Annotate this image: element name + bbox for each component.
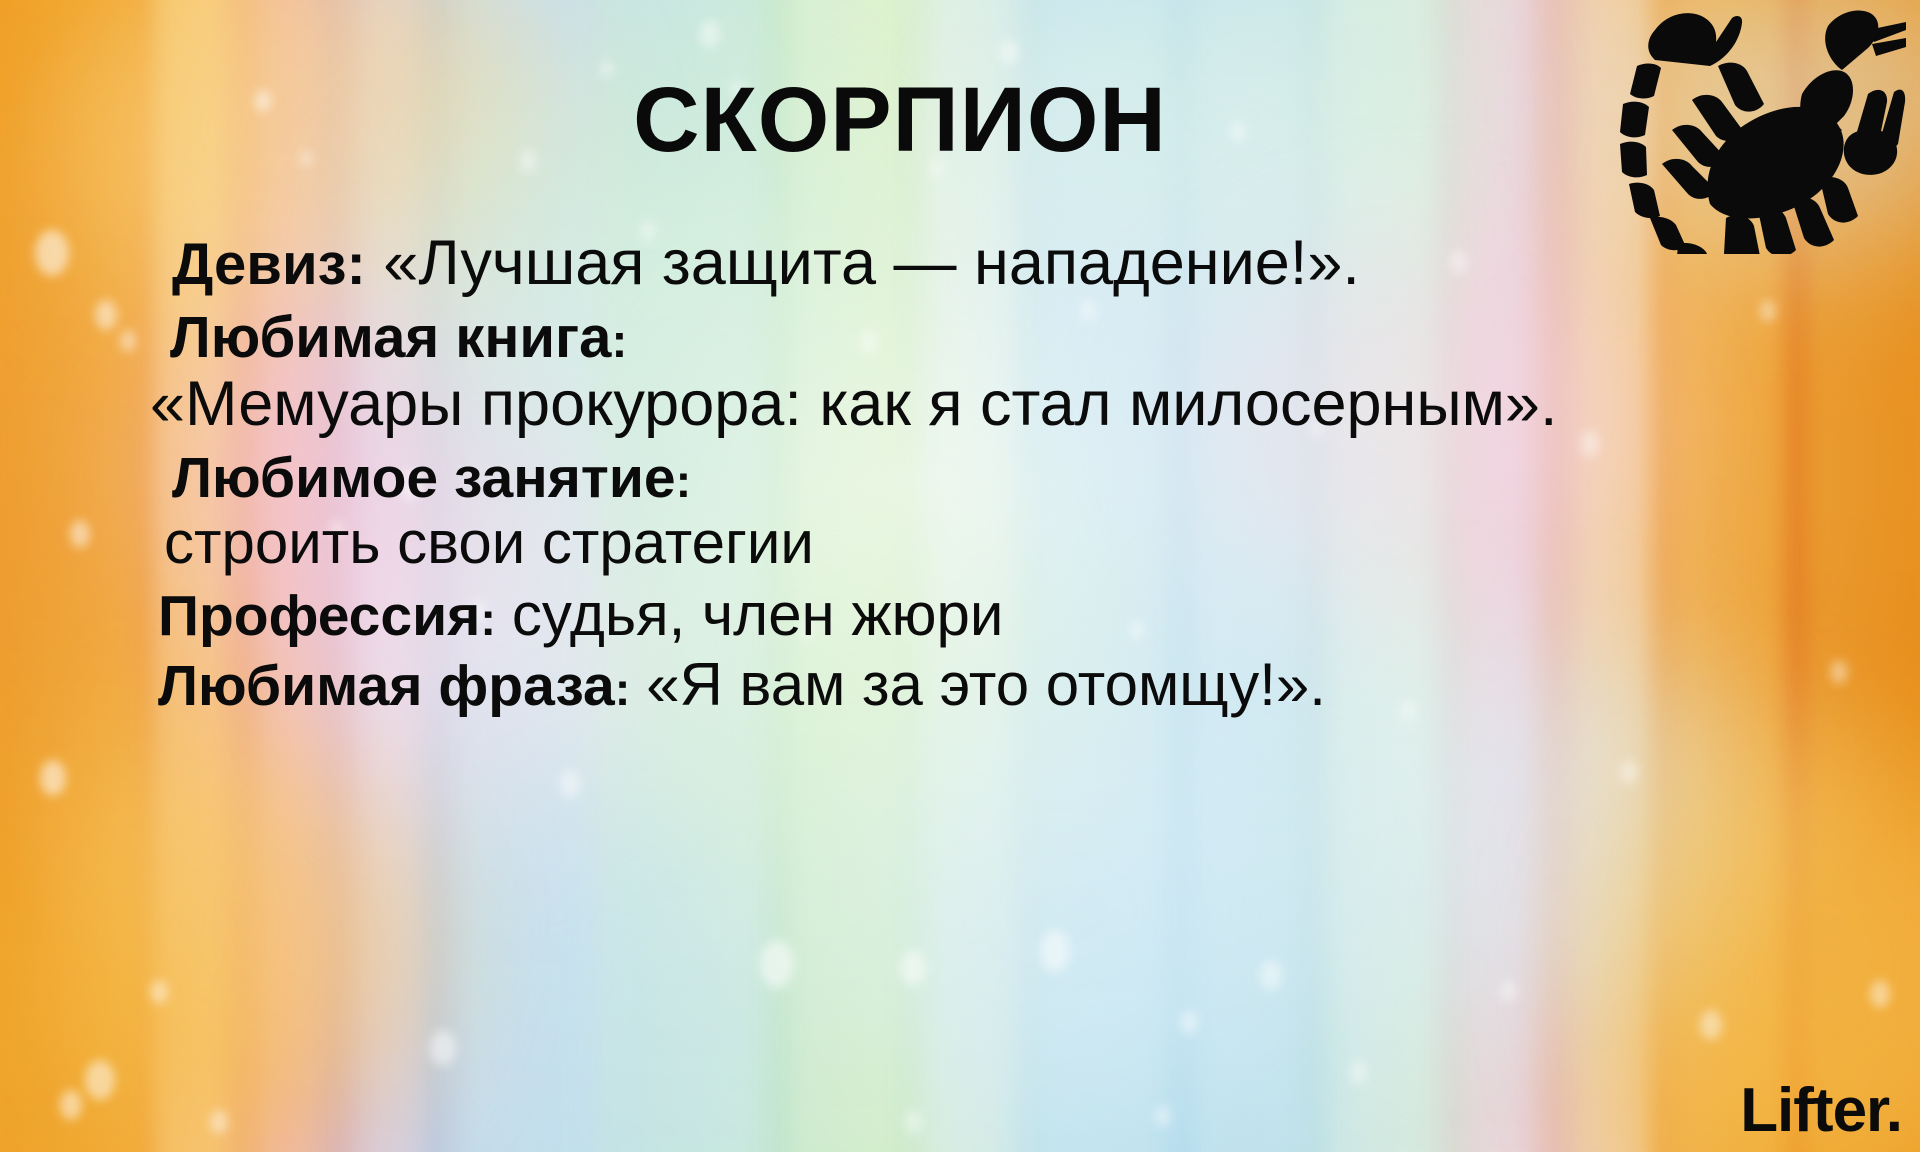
list-item: Любимое занятие: — [172, 450, 1880, 507]
trait-value-hobby: строить свои стратегии — [164, 509, 814, 576]
list-item: «Мемуары прокурора: как я стал милосерны… — [150, 373, 1880, 436]
trait-label-profession: Профессия — [158, 584, 480, 648]
scorpion-icon — [1606, 4, 1906, 254]
trait-colon: : — [611, 315, 627, 368]
trait-label-book: Любимая книга — [170, 305, 611, 370]
list-item: Девиз: «Лучшая защита — нападение!». — [172, 232, 1880, 295]
trait-colon: : — [676, 455, 692, 507]
trait-label-hobby: Любимое занятие — [172, 446, 676, 510]
trait-colon: : — [615, 663, 631, 715]
list-item: Профессия: судья, член жюри — [158, 585, 1880, 645]
trait-label-motto: Девиз — [172, 232, 346, 297]
trait-colon: : — [480, 593, 496, 645]
trait-value-motto: «Лучшая защита — нападение!». — [383, 228, 1360, 298]
list-item: Любимая фраза: «Я вам за это отомщу!». — [158, 655, 1880, 715]
trait-value-profession: судья, член жюри — [512, 581, 1004, 648]
trait-colon: : — [346, 232, 365, 297]
list-item: Любимая книга: — [170, 309, 1880, 367]
trait-value-book: «Мемуары прокурора: как я стал милосерны… — [150, 369, 1557, 439]
watermark-logo: Lifter. — [1740, 1075, 1902, 1146]
trait-label-phrase: Любимая фраза — [158, 654, 615, 718]
trait-value-phrase: «Я вам за это отомщу!». — [646, 651, 1326, 718]
list-item: строить свои стратегии — [164, 513, 1880, 573]
trait-list: Девиз: «Лучшая защита — нападение!». Люб… — [150, 232, 1880, 729]
